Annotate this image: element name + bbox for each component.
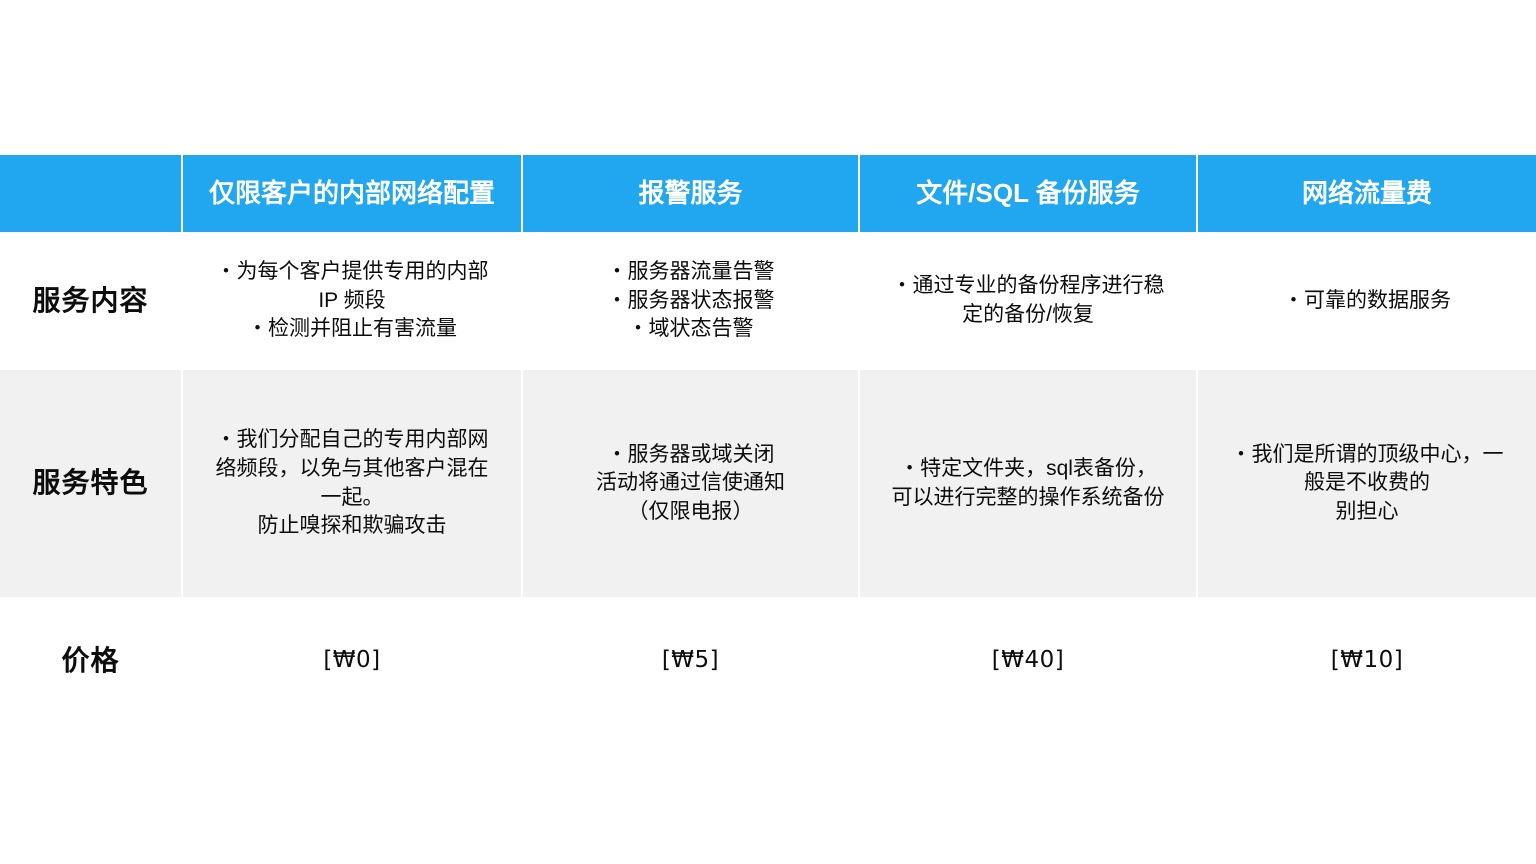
cell-text: ・我们是所谓的顶级中心，一 般是不收费的 别担心 bbox=[1210, 441, 1524, 527]
cell-price-backup-service: [₩40] bbox=[859, 597, 1197, 725]
table-corner-cell bbox=[0, 155, 182, 232]
cell-service-content-traffic-fee: ・可靠的数据服务 bbox=[1197, 232, 1536, 370]
column-header-alarm-service: 报警服务 bbox=[522, 155, 859, 232]
row-label-service-features: 服务特色 bbox=[0, 370, 182, 597]
table-row: 服务内容 ・为每个客户提供专用的内部 IP 频段 ・检测并阻止有害流量 ・服务器… bbox=[0, 232, 1536, 370]
price-value: [₩40] bbox=[992, 647, 1064, 673]
cell-text: ・特定文件夹，sql表备份， 可以进行完整的操作系统备份 bbox=[872, 455, 1184, 512]
cell-text: ・服务器或域关闭 活动将通过信使通知 （仅限电报） bbox=[535, 441, 846, 527]
cell-price-internal-network: [₩0] bbox=[182, 597, 522, 725]
column-header-backup-service: 文件/SQL 备份服务 bbox=[859, 155, 1197, 232]
page-root: 仅限客户的内部网络配置 报警服务 文件/SQL 备份服务 网络流量费 服务内容 … bbox=[0, 0, 1536, 864]
price-value: [₩10] bbox=[1331, 647, 1403, 673]
cell-text: ・通过专业的备份程序进行稳 定的备份/恢复 bbox=[872, 272, 1184, 329]
cell-service-features-backup-service: ・特定文件夹，sql表备份， 可以进行完整的操作系统备份 bbox=[859, 370, 1197, 597]
service-pricing-table: 仅限客户的内部网络配置 报警服务 文件/SQL 备份服务 网络流量费 服务内容 … bbox=[0, 155, 1536, 725]
cell-service-features-traffic-fee: ・我们是所谓的顶级中心，一 般是不收费的 别担心 bbox=[1197, 370, 1536, 597]
table-header-row: 仅限客户的内部网络配置 报警服务 文件/SQL 备份服务 网络流量费 bbox=[0, 155, 1536, 232]
row-label-service-content: 服务内容 bbox=[0, 232, 182, 370]
cell-service-content-internal-network: ・为每个客户提供专用的内部 IP 频段 ・检测并阻止有害流量 bbox=[182, 232, 522, 370]
price-value: [₩0] bbox=[323, 647, 380, 673]
table-row: 价格 [₩0] [₩5] [₩40] [₩10] bbox=[0, 597, 1536, 725]
price-value: [₩5] bbox=[662, 647, 719, 673]
column-header-internal-network: 仅限客户的内部网络配置 bbox=[182, 155, 522, 232]
table-body: 服务内容 ・为每个客户提供专用的内部 IP 频段 ・检测并阻止有害流量 ・服务器… bbox=[0, 232, 1536, 725]
row-label-price: 价格 bbox=[0, 597, 182, 725]
cell-price-alarm-service: [₩5] bbox=[522, 597, 859, 725]
cell-service-features-internal-network: ・我们分配自己的专用内部网 络频段，以免与其他客户混在 一起。 防止嗅探和欺骗攻… bbox=[182, 370, 522, 597]
table-row: 服务特色 ・我们分配自己的专用内部网 络频段，以免与其他客户混在 一起。 防止嗅… bbox=[0, 370, 1536, 597]
table-header: 仅限客户的内部网络配置 报警服务 文件/SQL 备份服务 网络流量费 bbox=[0, 155, 1536, 232]
column-header-traffic-fee: 网络流量费 bbox=[1197, 155, 1536, 232]
cell-text: ・服务器流量告警 ・服务器状态报警 ・域状态告警 bbox=[535, 258, 846, 344]
cell-service-content-backup-service: ・通过专业的备份程序进行稳 定的备份/恢复 bbox=[859, 232, 1197, 370]
cell-text: ・我们分配自己的专用内部网 络频段，以免与其他客户混在 一起。 防止嗅探和欺骗攻… bbox=[195, 426, 509, 540]
cell-price-traffic-fee: [₩10] bbox=[1197, 597, 1536, 725]
cell-service-features-alarm-service: ・服务器或域关闭 活动将通过信使通知 （仅限电报） bbox=[522, 370, 859, 597]
cell-text: ・为每个客户提供专用的内部 IP 频段 ・检测并阻止有害流量 bbox=[195, 258, 509, 344]
cell-service-content-alarm-service: ・服务器流量告警 ・服务器状态报警 ・域状态告警 bbox=[522, 232, 859, 370]
cell-text: ・可靠的数据服务 bbox=[1210, 287, 1524, 316]
